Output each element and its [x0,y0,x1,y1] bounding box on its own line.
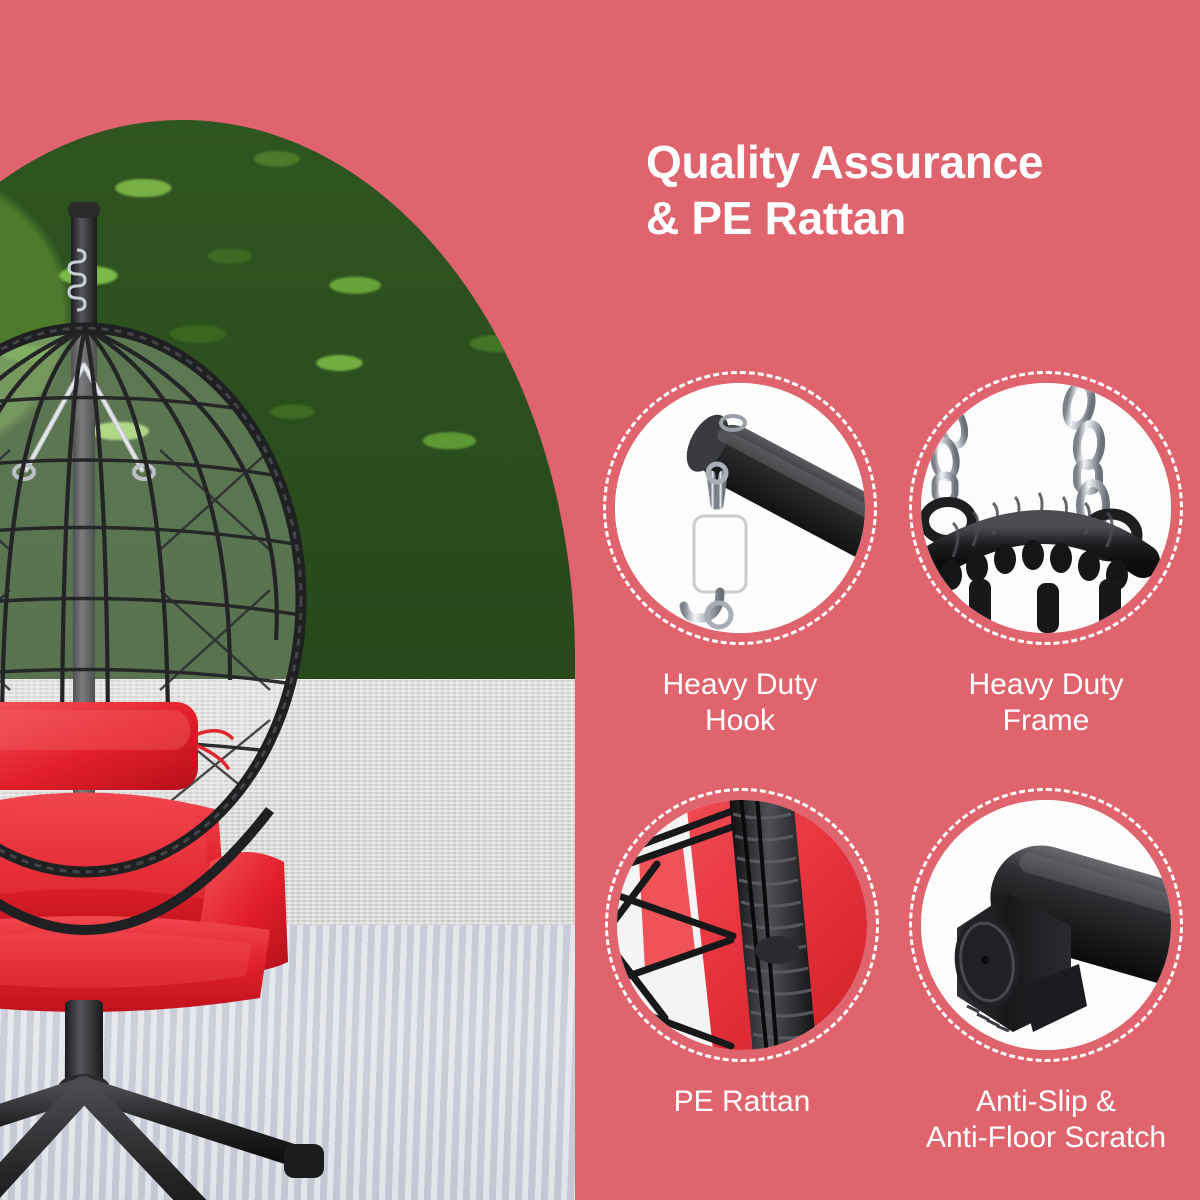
feature-label: Anti-Slip & Anti-Floor Scratch [896,1084,1196,1156]
marketing-graphic: Quality Assurance & PE Rattan [0,0,1200,1200]
feature-circle [909,788,1183,1062]
feature-label: Heavy Duty Hook [590,667,890,739]
foot-cap-photo [921,800,1171,1050]
page-title: Quality Assurance & PE Rattan [646,134,1176,246]
hero-photo-panel [0,120,575,1200]
foot-cap-icon [921,800,1171,1050]
hook-icon [615,383,865,633]
feature-anti-slip: Anti-Slip & Anti-Floor Scratch [909,788,1196,1156]
egg-chair-frame [0,328,301,1012]
chair-stand [0,1000,324,1200]
feature-heavy-duty-hook: Heavy Duty Hook [603,371,890,739]
feature-circle [605,788,879,1062]
seat-cushion [0,916,270,1012]
feature-label: PE Rattan [592,1084,892,1120]
feature-circle [909,371,1183,645]
feature-label: Heavy Duty Frame [896,667,1196,739]
feature-heavy-duty-frame: Heavy Duty Frame [909,371,1196,739]
headline-line-2: & PE Rattan [646,190,1176,246]
rattan-weave-icon [617,800,867,1050]
headline-line-1: Quality Assurance [646,134,1176,190]
feature-pe-rattan: PE Rattan [605,788,892,1120]
feature-circle [603,371,877,645]
chain-frame-icon [921,383,1171,633]
hero-chair-illustration [0,120,575,1200]
frame-photo [921,383,1171,633]
hook-photo [615,383,865,633]
rattan-photo [617,800,867,1050]
